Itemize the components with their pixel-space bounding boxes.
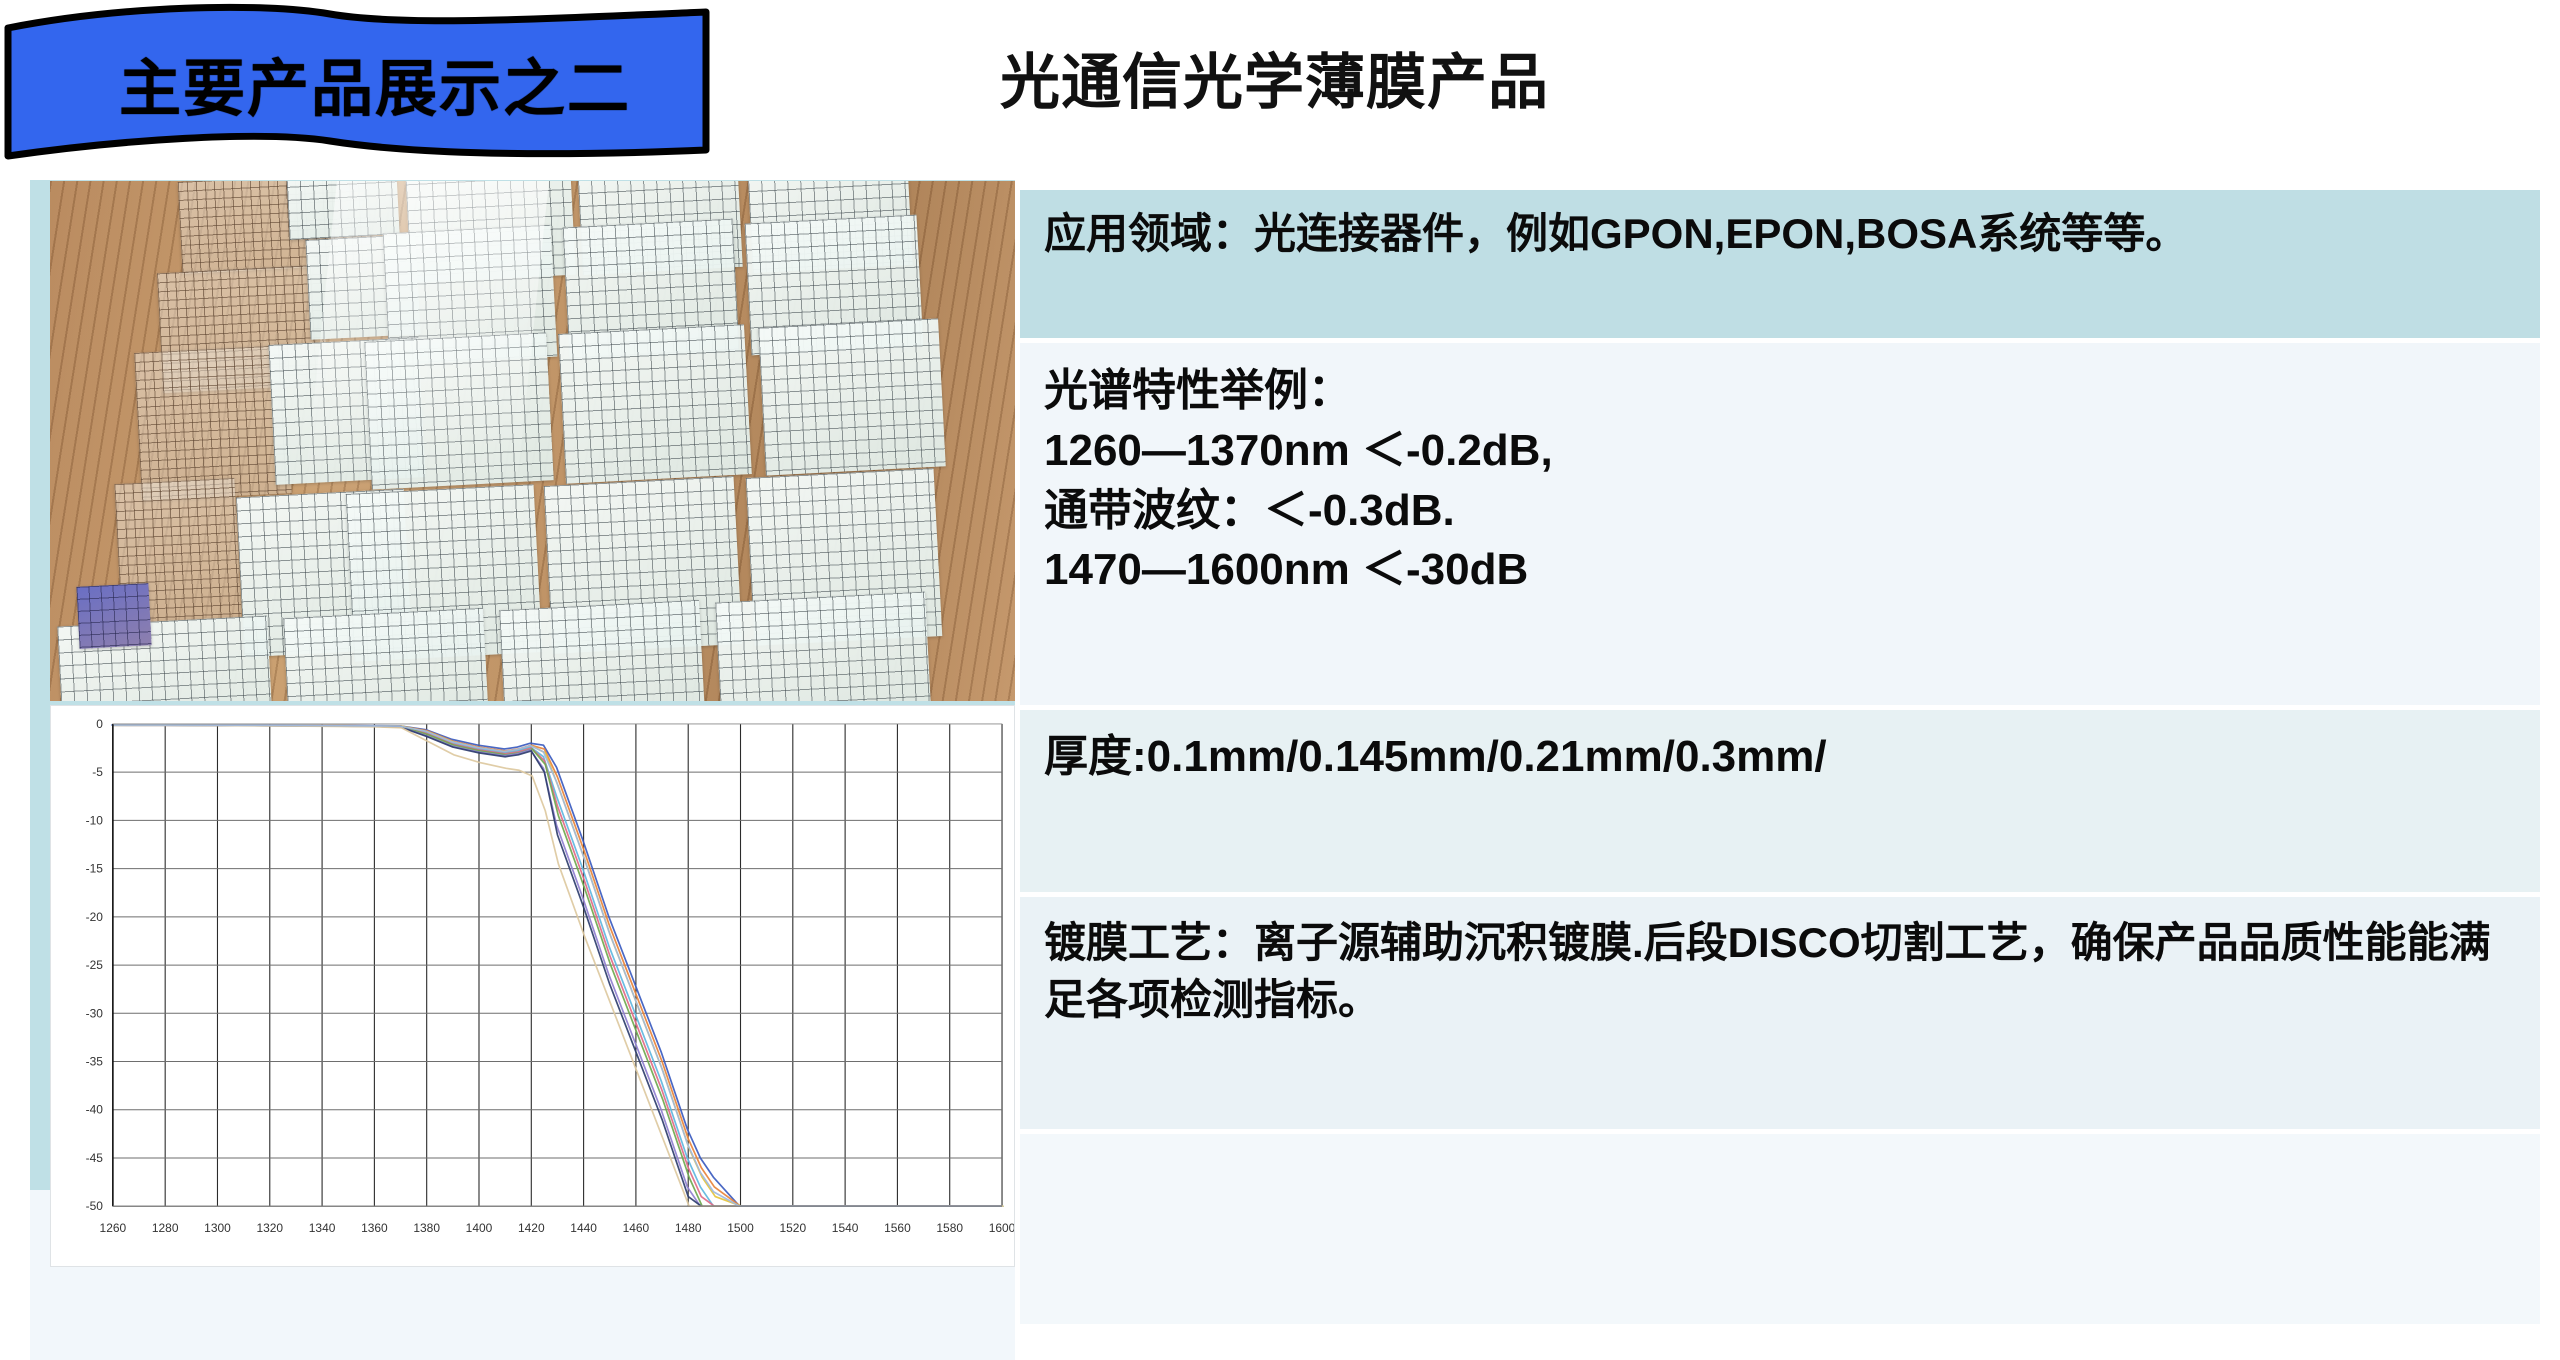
svg-text:1320: 1320 [256,1221,283,1235]
filter-panel-r3c4 [758,318,945,475]
svg-text:1420: 1420 [518,1221,545,1235]
page-title: 光通信光学薄膜产品 [1000,34,1549,121]
banner-title: 主要产品展示之二 [0,0,720,165]
panel-4-line-1: 镀膜工艺：离子源辅助沉积镀膜.后段DISCO切割工艺，确保产品品质性能能满足各项… [1044,915,2516,1028]
panel-2-line-3: 通带波纹：＜-0.3dB. [1044,481,2516,541]
photo-glare [303,181,549,503]
svg-text:1500: 1500 [727,1221,754,1235]
section-banner: 主要产品展示之二 [0,0,720,165]
svg-text:-10: -10 [86,813,104,827]
svg-text:1480: 1480 [675,1221,702,1235]
chart-x-tick-labels: 1260128013001320134013601380140014201440… [100,1221,1014,1235]
svg-text:-35: -35 [86,1055,104,1069]
panel-coating-process: 镀膜工艺：离子源辅助沉积镀膜.后段DISCO切割工艺，确保产品品质性能能满足各项… [1020,897,2540,1129]
svg-text:-45: -45 [86,1151,104,1165]
svg-text:-20: -20 [86,910,104,924]
svg-text:-30: -30 [86,1006,104,1020]
filter-array-blue [76,583,151,649]
panel-thickness: 厚度:0.1mm/0.145mm/0.21mm/0.3mm/ [1020,710,2540,892]
panel-application-field: 应用领域：光连接器件，例如GPON,EPON,BOSA系统等等。 [1020,190,2540,338]
panel-empty [1020,1134,2540,1324]
svg-text:-50: -50 [86,1199,104,1213]
svg-text:-15: -15 [86,862,104,876]
svg-text:1380: 1380 [413,1221,440,1235]
filter-panel-r5c3 [499,600,705,701]
panel-2-line-1: 光谱特性举例： [1044,361,2516,421]
svg-text:1580: 1580 [936,1221,963,1235]
svg-text:-25: -25 [86,958,104,972]
filter-array-small-3 [134,345,292,501]
product-photo [50,181,1015,701]
svg-text:1340: 1340 [309,1221,336,1235]
svg-text:0: 0 [96,717,103,731]
filter-panel-r5c4 [715,592,931,701]
svg-text:1540: 1540 [832,1221,859,1235]
filter-panel-r5c2 [283,608,489,701]
panel-2-line-2: 1260—1370nm ＜-0.2dB, [1044,421,2516,481]
filter-panel-r3c3 [558,324,752,484]
left-media-column: 1260128013001320134013601380140014201440… [30,180,1010,1355]
svg-text:-40: -40 [86,1103,104,1117]
chart-y-tick-labels: 0-5-10-15-20-25-30-35-40-45-50 [86,717,104,1213]
panel-1-line-1: 应用领域：光连接器件，例如GPON,EPON,BOSA系统等等。 [1044,208,2516,261]
svg-text:1360: 1360 [361,1221,388,1235]
svg-text:1300: 1300 [204,1221,231,1235]
panel-2-line-4: 1470—1600nm ＜-30dB [1044,540,2516,600]
svg-text:1460: 1460 [623,1221,650,1235]
svg-text:-5: -5 [92,765,103,779]
svg-text:1560: 1560 [884,1221,911,1235]
svg-text:1520: 1520 [780,1221,807,1235]
svg-text:1400: 1400 [466,1221,493,1235]
spectral-chart-svg: 1260128013001320134013601380140014201440… [51,706,1014,1266]
panel-spectral-spec: 光谱特性举例： 1260—1370nm ＜-0.2dB, 通带波纹：＜-0.3d… [1020,343,2540,705]
svg-text:1260: 1260 [100,1221,127,1235]
svg-text:1600: 1600 [989,1221,1014,1235]
panel-3-line-1: 厚度:0.1mm/0.145mm/0.21mm/0.3mm/ [1044,728,2516,785]
spectral-chart: 1260128013001320134013601380140014201440… [50,705,1015,1267]
svg-text:1440: 1440 [570,1221,597,1235]
svg-text:1280: 1280 [152,1221,179,1235]
